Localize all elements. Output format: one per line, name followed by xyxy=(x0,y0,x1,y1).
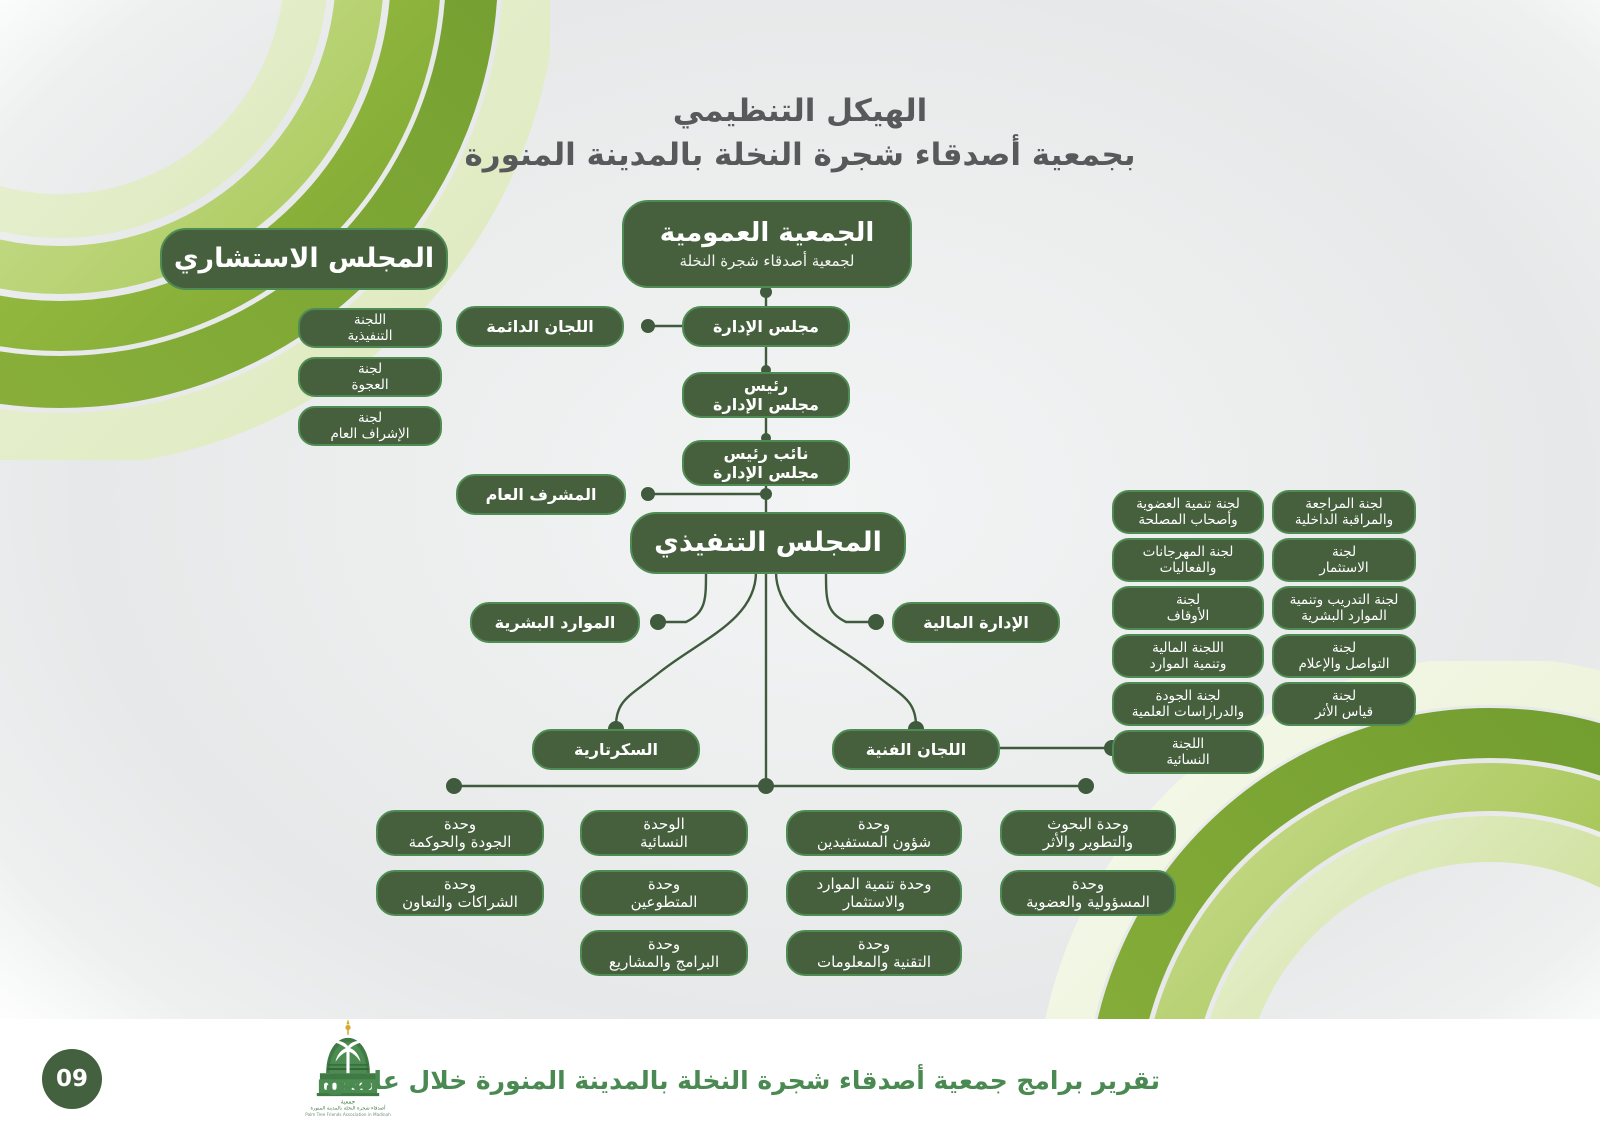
secretariat-label: السكرتارية xyxy=(574,740,658,759)
label-line-2: المسؤولية والعضوية xyxy=(1026,893,1150,911)
label-line-1: لجنة تنمية العضوية xyxy=(1136,496,1240,512)
label-line-1: وحدة البحوث xyxy=(1047,815,1129,833)
label-line-2: والاستثمار xyxy=(843,893,905,911)
node-unit-technology-information[interactable]: وحدة التقنية والمعلومات xyxy=(786,930,962,976)
label-line-1: وحدة xyxy=(648,935,680,953)
node-technical-committees[interactable]: اللجان الفنية xyxy=(832,729,1000,770)
label-line-1: الوحدة xyxy=(643,815,685,833)
node-committee-quality-scientific-studies[interactable]: لجنة الجودة والدراراسات العلمية xyxy=(1112,682,1264,726)
node-advisory-child-ajwa[interactable]: لجنة العجوة xyxy=(298,357,442,397)
label-line-1: رئيس xyxy=(744,376,788,395)
footer-caption: تقرير برامج جمعية أصدقاء شجرة النخلة بال… xyxy=(325,1066,1160,1095)
label-line-2: التقنية والمعلومات xyxy=(817,953,931,971)
label-line-2: والدراراسات العلمية xyxy=(1132,704,1244,720)
label-line-2: مجلس الإدارة xyxy=(713,395,819,414)
label-line-1: اللجنة xyxy=(354,312,386,328)
node-committee-finance-resource-development[interactable]: اللجنة المالية وتنمية الموارد xyxy=(1112,634,1264,678)
label-line-2: النسائية xyxy=(1166,752,1209,768)
node-unit-womens[interactable]: الوحدة النسائية xyxy=(580,810,748,856)
label-line-2: الإشراف العام xyxy=(330,426,409,442)
node-advisory-child-executive[interactable]: اللجنة التنفيذية xyxy=(298,308,442,348)
executive-council-label: المجلس التنفيذي xyxy=(654,527,882,559)
page-number-badge: 09 xyxy=(42,1049,102,1109)
node-standing-committees[interactable]: اللجان الدائمة xyxy=(456,306,624,347)
logo-arabic-name: أصدقاء شجرة النخلة بالمدينة المنورة xyxy=(311,1105,387,1112)
node-human-resources[interactable]: الموارد البشرية xyxy=(470,602,640,643)
node-advisory-council[interactable]: المجلس الاستشاري xyxy=(160,228,448,290)
label-line-1: لجنة المهرجانات xyxy=(1143,544,1234,560)
label-line-1: لجنة xyxy=(1332,544,1356,560)
general-assembly-subtitle: لجمعية أصدقاء شجرة النخلة xyxy=(680,252,855,270)
standing-committees-label: اللجان الدائمة xyxy=(486,317,593,336)
label-line-2: وتنمية الموارد xyxy=(1150,656,1227,672)
label-line-1: وحدة xyxy=(858,935,890,953)
node-board-of-directors[interactable]: مجلس الإدارة xyxy=(682,306,850,347)
label-line-1: لجنة الجودة xyxy=(1155,688,1220,704)
board-label: مجلس الإدارة xyxy=(713,317,819,336)
node-advisory-child-supervision[interactable]: لجنة الإشراف العام xyxy=(298,406,442,446)
label-line-2: قياس الأثر xyxy=(1315,704,1373,720)
label-line-2: الشراكات والتعاون xyxy=(402,893,518,911)
label-line-2: الموارد البشرية xyxy=(1301,608,1387,624)
label-line-1: وحدة xyxy=(444,875,476,893)
node-finance-department[interactable]: الإدارة المالية xyxy=(892,602,1060,643)
label-line-2: مجلس الإدارة xyxy=(713,463,819,482)
label-line-2: وأصحاب المصلحة xyxy=(1138,512,1237,528)
node-board-vice-chairman[interactable]: نائب رئيس مجلس الإدارة xyxy=(682,440,850,486)
node-unit-volunteers[interactable]: وحدة المتطوعين xyxy=(580,870,748,916)
label-line-2: الأوقاف xyxy=(1167,608,1210,624)
node-committee-membership-stakeholders[interactable]: لجنة تنمية العضوية وأصحاب المصلحة xyxy=(1112,490,1264,534)
node-unit-resource-development-investment[interactable]: وحدة تنمية الموارد والاستثمار xyxy=(786,870,962,916)
label-line-1: لجنة xyxy=(1176,592,1200,608)
label-line-2: شؤون المستفيدين xyxy=(817,833,931,851)
node-unit-quality-governance[interactable]: وحدة الجودة والحوكمة xyxy=(376,810,544,856)
label-line-2: والتطوير والأثر xyxy=(1043,833,1133,851)
node-unit-research-development-impact[interactable]: وحدة البحوث والتطوير والأثر xyxy=(1000,810,1176,856)
node-committee-training-hr-development[interactable]: لجنة التدريب وتنمية الموارد البشرية xyxy=(1272,586,1416,630)
logo-english-name: Palm Tree Friends Association in Madinah xyxy=(305,1112,391,1117)
node-committee-communication-media[interactable]: لجنة التواصل والإعلام xyxy=(1272,634,1416,678)
node-general-assembly[interactable]: الجمعية العمومية لجمعية أصدقاء شجرة النخ… xyxy=(622,200,912,288)
node-secretariat[interactable]: السكرتارية xyxy=(532,729,700,770)
label-line-1: لجنة التدريب وتنمية xyxy=(1290,592,1399,608)
label-line-2: والفعاليات xyxy=(1160,560,1217,576)
node-board-chairman[interactable]: رئيس مجلس الإدارة xyxy=(682,372,850,418)
general-supervisor-label: المشرف العام xyxy=(486,485,597,504)
label-line-1: لجنة المراجعة xyxy=(1305,496,1382,512)
label-line-1: لجنة xyxy=(1332,640,1356,656)
label-line-2: والمراقبة الداخلية xyxy=(1295,512,1393,528)
node-unit-programs-projects[interactable]: وحدة البرامج والمشاريع xyxy=(580,930,748,976)
node-committee-audit-internal-control[interactable]: لجنة المراجعة والمراقبة الداخلية xyxy=(1272,490,1416,534)
general-assembly-title: الجمعية العمومية xyxy=(660,218,875,249)
label-line-1: لجنة xyxy=(358,361,382,377)
node-unit-beneficiary-affairs[interactable]: وحدة شؤون المستفيدين xyxy=(786,810,962,856)
node-executive-council[interactable]: المجلس التنفيذي xyxy=(630,512,906,574)
label-line-1: وحدة xyxy=(858,815,890,833)
node-unit-partnerships-cooperation[interactable]: وحدة الشراكات والتعاون xyxy=(376,870,544,916)
label-line-2: التواصل والإعلام xyxy=(1298,656,1389,672)
node-unit-responsibility-membership[interactable]: وحدة المسؤولية والعضوية xyxy=(1000,870,1176,916)
label-line-1: وحدة xyxy=(648,875,680,893)
label-line-1: نائب رئيس xyxy=(724,444,809,463)
label-line-2: البرامج والمشاريع xyxy=(609,953,719,971)
label-line-1: وحدة xyxy=(1072,875,1104,893)
label-line-1: لجنة xyxy=(358,410,382,426)
label-line-2: العجوة xyxy=(351,377,388,393)
label-line-2: الجودة والحوكمة xyxy=(409,833,512,851)
label-line-2: الاستثمار xyxy=(1319,560,1368,576)
logo-arabic-word: جمعية xyxy=(341,1099,356,1105)
label-line-2: النسائية xyxy=(640,833,688,851)
label-line-1: اللجنة المالية xyxy=(1152,640,1224,656)
technical-committees-label: اللجان الفنية xyxy=(866,740,967,759)
finance-label: الإدارة المالية xyxy=(923,613,1029,632)
label-line-1: وحدة تنمية الموارد xyxy=(817,875,932,893)
node-committee-festivals-events[interactable]: لجنة المهرجانات والفعاليات xyxy=(1112,538,1264,582)
node-committee-impact-measurement[interactable]: لجنة قياس الأثر xyxy=(1272,682,1416,726)
label-line-1: وحدة xyxy=(444,815,476,833)
node-committee-womens[interactable]: اللجنة النسائية xyxy=(1112,730,1264,774)
node-committee-endowments[interactable]: لجنة الأوقاف xyxy=(1112,586,1264,630)
slide-canvas: الهيكل التنظيمي بجمعية أصدقاء شجرة النخل… xyxy=(0,0,1600,1131)
label-line-1: لجنة xyxy=(1332,688,1356,704)
advisory-council-label: المجلس الاستشاري xyxy=(174,243,434,275)
node-committee-investment[interactable]: لجنة الاستثمار xyxy=(1272,538,1416,582)
label-line-2: المتطوعين xyxy=(631,893,698,911)
human-resources-label: الموارد البشرية xyxy=(495,613,616,632)
node-general-supervisor[interactable]: المشرف العام xyxy=(456,474,626,515)
label-line-1: اللجنة xyxy=(1172,736,1204,752)
label-line-2: التنفيذية xyxy=(348,328,393,344)
